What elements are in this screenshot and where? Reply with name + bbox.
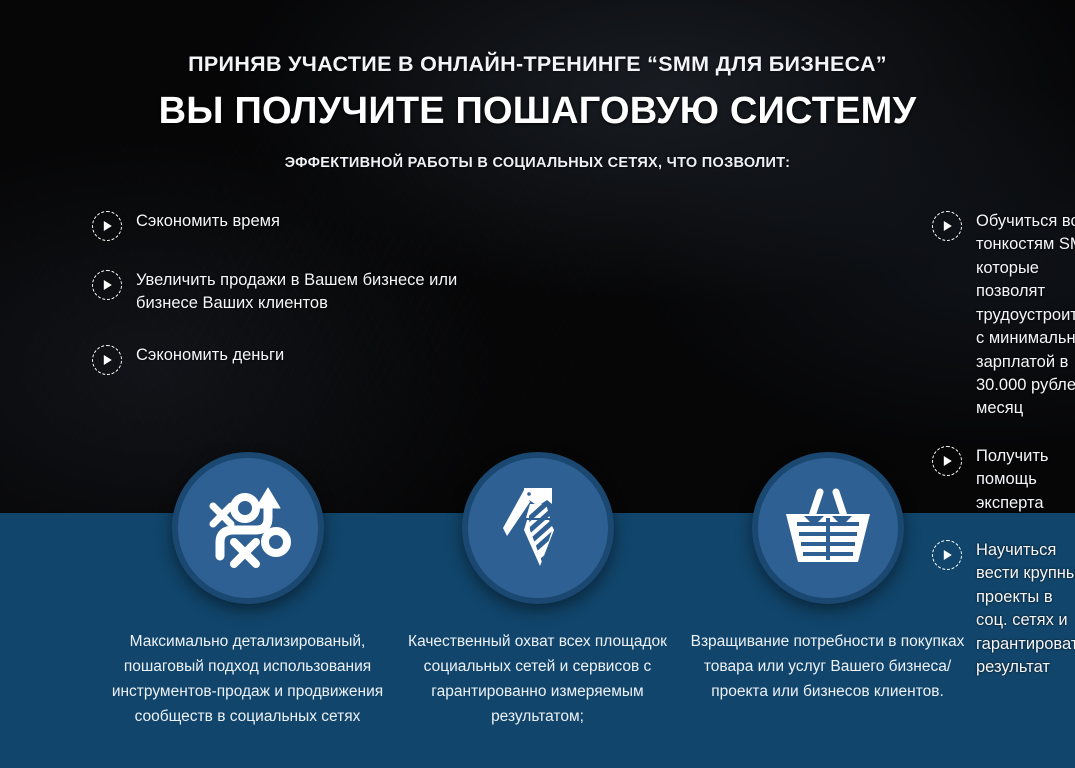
list-item-label: Сэкономить деньги <box>136 344 284 367</box>
play-circle-icon <box>92 211 122 241</box>
hero-subline: ЭФФЕКТИВНОЙ РАБОТЫ В СОЦИАЛЬНЫХ СЕТЯХ, Ч… <box>0 133 1075 171</box>
strategy-playbook-icon <box>200 480 296 576</box>
list-item-label: Увеличить продажи в Вашем бизнесе или би… <box>136 269 470 316</box>
play-circle-icon <box>92 345 122 375</box>
play-circle-icon <box>932 211 962 241</box>
list-item-label: Обучиться всем тонкостям SMM, которые по… <box>976 210 1075 421</box>
feature-card: Максимально детализированый, пошаговый п… <box>103 452 393 729</box>
play-circle-icon <box>92 270 122 300</box>
landing-section: ПРИНЯВ УЧАСТИЕ В ОНЛАЙН-ТРЕНИНГЕ “SMM ДЛ… <box>0 0 1075 768</box>
hero-kicker: ПРИНЯВ УЧАСТИЕ В ОНЛАЙН-ТРЕНИНГЕ “SMM ДЛ… <box>0 0 1075 77</box>
feature-icon-circle <box>172 452 324 604</box>
feature-card-caption: Взращивание потребности в покупках товар… <box>682 629 974 704</box>
feature-card: Взращивание потребности в покупках товар… <box>683 452 973 729</box>
necktie-icon <box>490 480 586 576</box>
hero-headings: ПРИНЯВ УЧАСТИЕ В ОНЛАЙН-ТРЕНИНГЕ “SMM ДЛ… <box>0 0 1075 171</box>
feature-icon-circle <box>752 452 904 604</box>
list-item: Увеличить продажи в Вашем бизнесе или би… <box>92 269 470 316</box>
feature-card-caption: Качественный охват всех площадок социаль… <box>392 629 684 729</box>
list-item-label: Сэкономить время <box>136 210 280 233</box>
feature-cards: Максимально детализированый, пошаговый п… <box>0 452 1075 729</box>
shopping-basket-icon <box>780 480 876 576</box>
page-title: ВЫ ПОЛУЧИТЕ ПОШАГОВУЮ СИСТЕМУ <box>0 77 1075 133</box>
feature-card-caption: Максимально детализированый, пошаговый п… <box>102 629 394 729</box>
list-item: Обучиться всем тонкостям SMM, которые по… <box>932 210 960 421</box>
list-item: Сэкономить время <box>92 210 470 241</box>
list-item: Сэкономить деньги <box>92 344 470 375</box>
feature-card: Качественный охват всех площадок социаль… <box>393 452 683 729</box>
feature-icon-circle <box>462 452 614 604</box>
